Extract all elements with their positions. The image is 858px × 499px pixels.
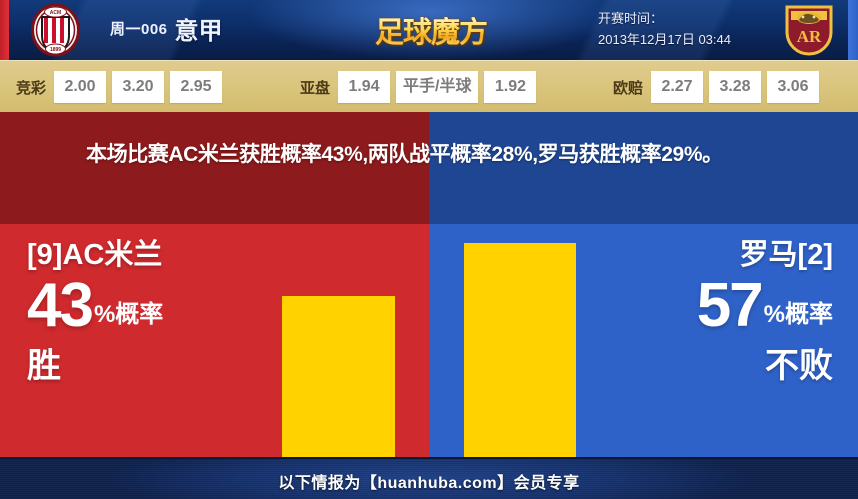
odds-cell-jingcai-draw[interactable]: 3.20	[112, 71, 164, 103]
odds-group-asian-handicap: 亚盘 1.94 平手/半球 1.92	[300, 61, 536, 113]
odds-group-label: 竞彩	[16, 77, 46, 98]
svg-text:ACM: ACM	[50, 10, 61, 16]
away-probability-value: 57	[697, 271, 762, 340]
away-outcome-label: 不败	[697, 345, 833, 387]
header-left-red-accent	[0, 0, 9, 60]
header-bar: ACM 1899 周一006意甲 足球魔方 开赛时间： 2013年12月17日 …	[0, 0, 858, 60]
odds-cell-jingcai-home[interactable]: 2.00	[54, 71, 106, 103]
summary-text: 本场比赛AC米兰获胜概率43%,两队战平概率28%,罗马获胜概率29%。	[86, 138, 786, 172]
kickoff-value: 2013年12月17日 03:44	[598, 29, 731, 50]
home-outcome-label: 胜	[27, 345, 163, 387]
svg-text:AR: AR	[797, 27, 822, 46]
away-probability-row: 57%概率	[697, 275, 833, 337]
away-team-name: 罗马[2]	[697, 237, 833, 273]
odds-cell-euro-home[interactable]: 2.27	[651, 71, 703, 103]
ac-milan-crest-icon: ACM 1899	[29, 3, 82, 57]
match-number: 周一006	[110, 21, 168, 38]
match-probability-infographic: ACM 1899 周一006意甲 足球魔方 开赛时间： 2013年12月17日 …	[0, 0, 858, 499]
odds-cell-asian-away[interactable]: 1.92	[484, 71, 536, 103]
odds-cell-euro-away[interactable]: 3.06	[767, 71, 819, 103]
away-team-stats: 罗马[2] 57%概率 不败	[697, 237, 833, 387]
odds-group-jingcai: 竞彩 2.00 3.20 2.95	[16, 61, 222, 113]
odds-group-label: 亚盘	[300, 77, 330, 98]
home-team-stats: [9]AC米兰 43%概率 胜	[27, 237, 163, 387]
kickoff-label: 开赛时间：	[598, 8, 731, 29]
brand-logo: 足球魔方	[357, 9, 505, 51]
svg-text:1899: 1899	[50, 47, 61, 53]
odds-group-european: 欧赔 2.27 3.28 3.06	[613, 61, 819, 113]
header-right-blue-accent	[848, 0, 858, 60]
footer-text: 以下情报为【huanhuba.com】会员专享	[0, 469, 858, 493]
home-team-name: [9]AC米兰	[27, 237, 163, 273]
away-probability-unit: %概率	[764, 301, 833, 328]
odds-cell-asian-home[interactable]: 1.94	[338, 71, 390, 103]
home-probability-value: 43	[27, 271, 92, 340]
odds-cell-asian-handicap-line[interactable]: 平手/半球	[396, 71, 478, 103]
footer-bar: 以下情报为【huanhuba.com】会员专享	[0, 457, 858, 499]
bar-away-probability	[464, 243, 576, 457]
bar-home-probability	[282, 296, 395, 457]
probability-chart: [9]AC米兰 43%概率 胜 罗马[2] 57%概率 不败	[0, 224, 858, 457]
kickoff-time: 开赛时间： 2013年12月17日 03:44	[598, 8, 731, 50]
league-name: 意甲	[175, 18, 223, 45]
odds-bar: 竞彩 2.00 3.20 2.95 亚盘 1.94 平手/半球 1.92 欧赔 …	[0, 60, 858, 112]
odds-cell-jingcai-away[interactable]: 2.95	[170, 71, 222, 103]
home-probability-unit: %概率	[94, 301, 163, 328]
odds-group-label: 欧赔	[613, 77, 643, 98]
brand-logo-text: 足球魔方	[375, 17, 487, 49]
odds-cell-euro-draw[interactable]: 3.28	[709, 71, 761, 103]
summary-band: 本场比赛AC米兰获胜概率43%,两队战平概率28%,罗马获胜概率29%。	[0, 112, 858, 224]
match-title: 周一006意甲	[110, 11, 223, 46]
as-roma-crest-icon: AR	[783, 4, 835, 56]
home-probability-row: 43%概率	[27, 275, 163, 337]
